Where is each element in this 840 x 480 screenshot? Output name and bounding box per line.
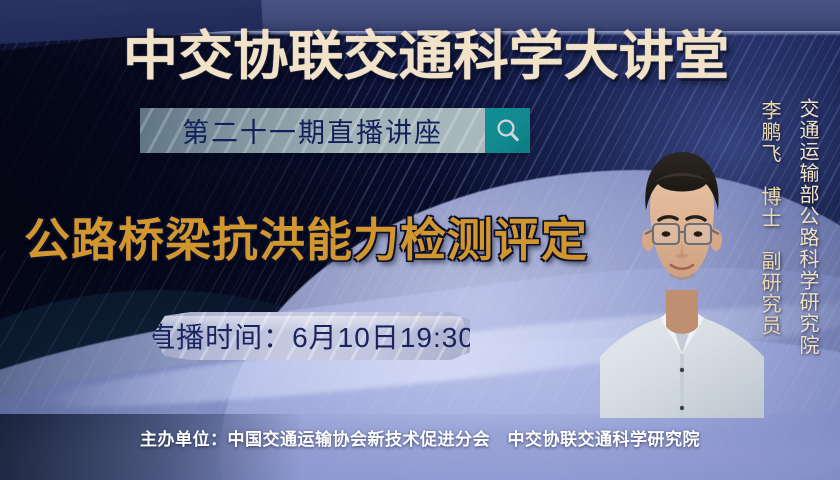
footer-organizers-label: 主办单位：中国交通运输协会新技术促进分会 中交协联交通科学研究院 <box>140 425 700 450</box>
footer: 主办单位：中国交通运输协会新技术促进分会 中交协联交通科学研究院 <box>0 425 840 450</box>
subtitle-label: 第二十一期直播讲座 <box>182 111 443 150</box>
speaker-name-and-title: 李鹏飞 博士 副研究员 <box>755 100 784 337</box>
speaker-organization: 交通运输部公路科学研究院 <box>793 98 822 356</box>
subtitle-bar: 第二十一期直播讲座 <box>140 108 485 153</box>
speaker-portrait-illustration <box>600 112 764 418</box>
page-title: 中交协联交通科学大讲堂 <box>114 20 738 84</box>
lecture-title: 公路桥梁抗洪能力检测评定 <box>24 206 614 268</box>
live-time-label: 直播时间：6月10日19:30 <box>152 316 470 356</box>
search-icon-tile[interactable] <box>485 108 530 153</box>
speaker-portrait <box>600 112 764 418</box>
live-time-badge: 直播时间：6月10日19:30 <box>152 312 470 360</box>
webinar-poster: 中交协联交通科学大讲堂 第二十一期直播讲座 公路桥梁抗洪能力检测评定 直播时间：… <box>0 0 840 480</box>
subtitle-banner: 第二十一期直播讲座 <box>140 108 530 153</box>
search-icon <box>493 116 523 146</box>
